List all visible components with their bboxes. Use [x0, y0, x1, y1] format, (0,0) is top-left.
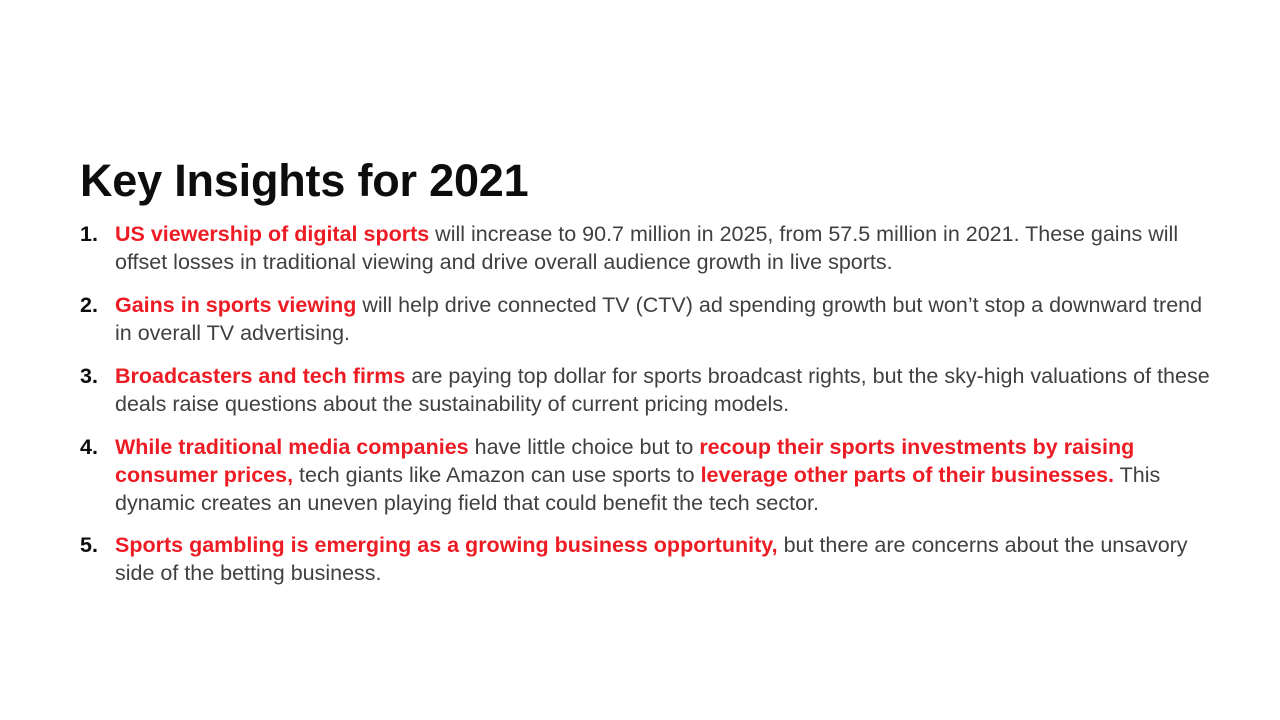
list-item-number: 5.: [80, 532, 98, 560]
highlighted-phrase: US viewership of digital sports: [115, 222, 429, 246]
list-item-number: 3.: [80, 363, 98, 391]
body-phrase: tech giants like Amazon can use sports t…: [293, 463, 701, 487]
list-item-text: US viewership of digital sports will inc…: [115, 221, 1215, 277]
key-insights-list: 1.US viewership of digital sports will i…: [80, 221, 1215, 588]
highlighted-phrase: While traditional media companies: [115, 435, 469, 459]
list-item-text: While traditional media companies have l…: [115, 434, 1215, 518]
list-item-number: 4.: [80, 434, 98, 462]
list-item-number: 2.: [80, 292, 98, 320]
list-item: 3.Broadcasters and tech firms are paying…: [80, 363, 1215, 419]
highlighted-phrase: Broadcasters and tech firms: [115, 364, 405, 388]
list-item: 2.Gains in sports viewing will help driv…: [80, 292, 1215, 348]
highlighted-phrase: leverage other parts of their businesses…: [701, 463, 1114, 487]
highlighted-phrase: Gains in sports viewing: [115, 293, 356, 317]
list-item-text: Sports gambling is emerging as a growing…: [115, 532, 1215, 588]
list-item: 4.While traditional media companies have…: [80, 434, 1215, 518]
body-phrase: have little choice but to: [469, 435, 700, 459]
page-title: Key Insights for 2021: [80, 156, 528, 206]
slide-canvas: Key Insights for 2021 1.US viewership of…: [0, 0, 1280, 720]
list-item-text: Broadcasters and tech firms are paying t…: [115, 363, 1215, 419]
list-item-text: Gains in sports viewing will help drive …: [115, 292, 1215, 348]
list-item: 5.Sports gambling is emerging as a growi…: [80, 532, 1215, 588]
highlighted-phrase: Sports gambling is emerging as a growing…: [115, 533, 778, 557]
list-item: 1.US viewership of digital sports will i…: [80, 221, 1215, 277]
list-item-number: 1.: [80, 221, 98, 249]
